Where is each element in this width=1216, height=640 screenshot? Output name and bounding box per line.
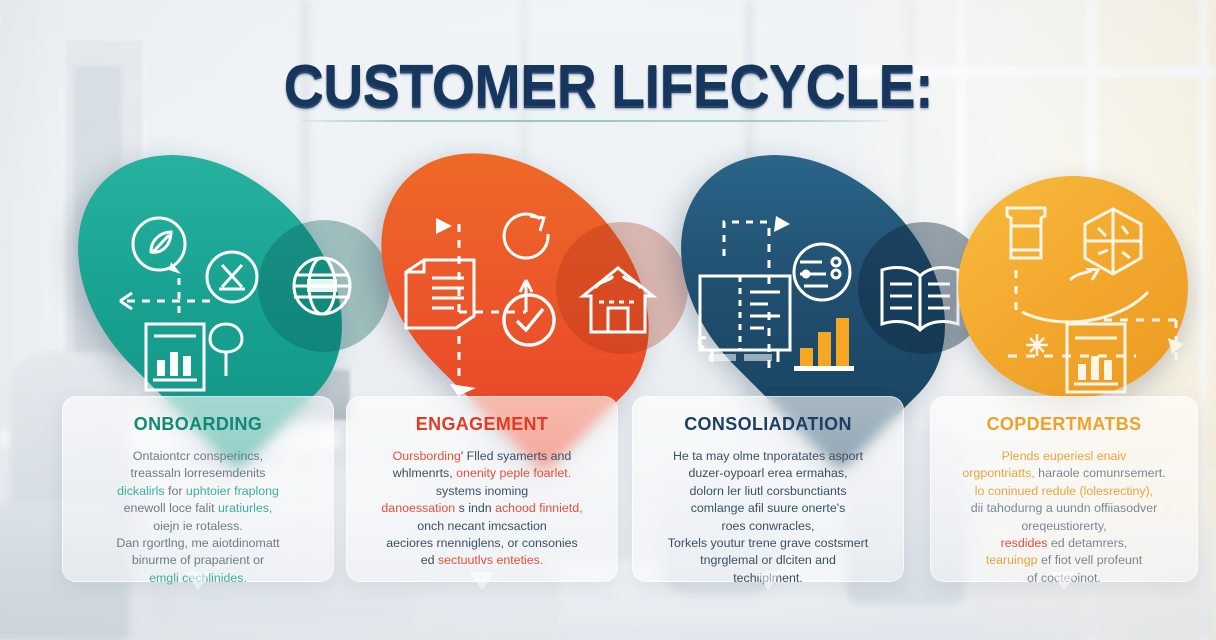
caption-heading-copdertmatbs: COPDERTMATBS [947, 413, 1182, 435]
caption-text-segment: Dan rgortlng, me aiotdinomatt [116, 536, 279, 550]
caption-text-segment: Oursbording [393, 449, 461, 463]
caption-panel-onboarding[interactable]: ONBOARDING Ontaiontcr consperincs,treass… [62, 396, 334, 582]
caption-text-segment: s indn [459, 501, 496, 515]
caption-text-segment: ef fiot vell profeunt [1041, 553, 1142, 567]
caption-text-segment: treassaln lorresemdenits [131, 466, 266, 480]
caption-panel-copdertmatbs[interactable]: COPDERTMATBS Plends euperiesl enaivorgpo… [930, 396, 1198, 582]
caption-heading-engagement: ENGAGEMENT [363, 413, 602, 435]
stage-caption-panels: ONBOARDING Ontaiontcr consperincs,treass… [0, 396, 1216, 596]
caption-text-segment: ' Flled syamerts and [461, 449, 571, 463]
caption-text-segment: comlange afil suure onerte's [691, 501, 846, 515]
caption-text-segment: aeciores rnenniglens, or consonies [386, 536, 577, 550]
caption-text-segment: systems inoming [436, 484, 528, 498]
caption-text-segment: He ta may olme tnporatates asport [673, 449, 863, 463]
caption-text-segment: enewoll loce falit [124, 501, 218, 515]
caption-text-segment: uratiurles, [218, 501, 272, 515]
caption-text-segment: whlmenrts, [393, 466, 456, 480]
caption-text-segment: onenity peple foarlet. [456, 466, 571, 480]
caption-text-segment: dii tahodurng a uundn offiiasodver [971, 501, 1157, 515]
caption-text-segment: binurme of praparient or [132, 553, 264, 567]
caption-text-segment: tearuingp [986, 553, 1041, 567]
caption-body-engagement: Oursbording' Flled syamerts andwhlmenrts… [359, 448, 605, 570]
caption-text-segment: lo coninued redule (lolesrectiny), [975, 484, 1153, 498]
caption-text-segment: ed detamrers, [1051, 536, 1127, 550]
caption-panel-consoliadation[interactable]: CONSOLIADATION He ta may olme tnporatate… [632, 396, 904, 582]
caption-heading-onboarding: ONBOARDING [79, 413, 318, 435]
stage-inner-circle-onboarding [258, 220, 390, 352]
caption-text-segment: duzer-oypoarl erea ermahas, [688, 466, 847, 480]
caption-text-segment: for [168, 484, 186, 498]
caption-panel-engagement[interactable]: ENGAGEMENT Oursbording' Flled syamerts a… [346, 396, 618, 582]
caption-text-segment: resdides [1001, 536, 1051, 550]
caption-text-segment: dickalirls [117, 484, 168, 498]
caption-text-segment: Torkels youtur trene grave costsmert [668, 536, 868, 550]
caption-text-segment: danoessation [381, 501, 458, 515]
stage-inner-circle-engagement [556, 222, 688, 354]
caption-text-segment: roes conwracles, [722, 519, 815, 533]
caption-heading-consoliadation: CONSOLIADATION [649, 413, 888, 435]
caption-text-segment: dolorn ler liutl corsbunctiants [689, 484, 846, 498]
caption-text-segment: uphtoier fraplong [186, 484, 279, 498]
caption-text-segment: tngrglemal or dlciten and [700, 553, 836, 567]
caption-text-segment: onch necant imcsaction [417, 519, 547, 533]
caption-text-segment: oreqeustiorerty, [1021, 519, 1106, 533]
caption-body-copdertmatbs: Plends euperiesl enaivorgpontriatts, har… [943, 448, 1185, 587]
caption-body-onboarding: Ontaiontcr consperincs,treassaln lorrese… [75, 448, 321, 587]
caption-body-consoliadation: He ta may olme tnporatates asportduzer-o… [645, 448, 891, 587]
caption-text-segment: orgpontriatts, [962, 466, 1038, 480]
caption-text-segment: Ontaiontcr consperincs, [133, 449, 263, 463]
caption-text-segment: Plends euperiesl enaiv [1002, 449, 1127, 463]
caption-text-segment: achood finnietd, [495, 501, 583, 515]
stage-shape-copdertmatbs[interactable] [958, 176, 1188, 398]
caption-notch [469, 572, 495, 590]
caption-text-segment: sectuutlvs enteties. [438, 553, 543, 567]
caption-text-segment: ed [421, 553, 438, 567]
caption-text-segment: oiejn ie rotaless. [153, 519, 243, 533]
caption-text-segment: haraole comunrsemert. [1038, 466, 1165, 480]
